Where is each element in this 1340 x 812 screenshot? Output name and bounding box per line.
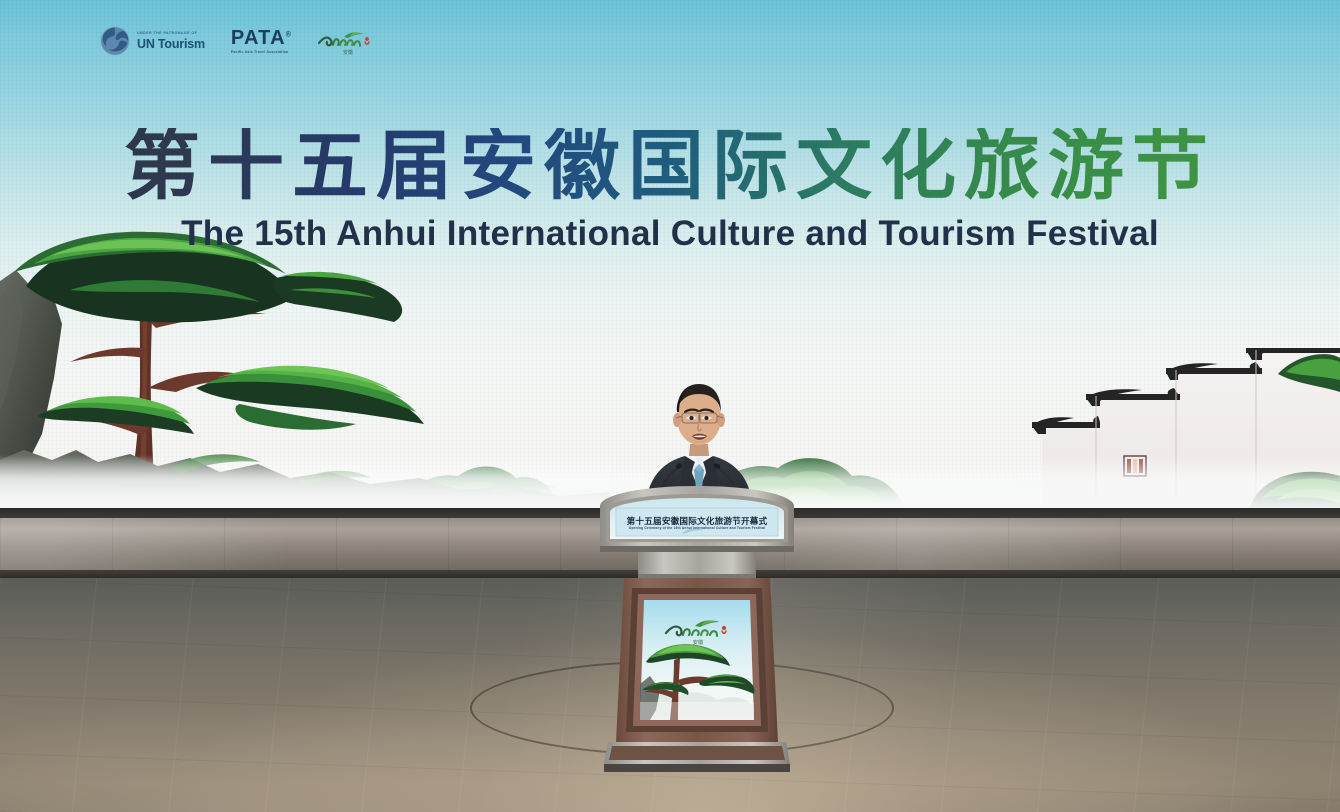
pata-wordmark: PATA®: [231, 28, 291, 48]
stage-photograph: UNDER THE PATRONAGE OF UN Tourism PATA® …: [0, 0, 1340, 812]
podium-sign-english: Opening Ceremony of the 15th Anhui Inter…: [594, 526, 800, 530]
podium: 第十五届安徽国际文化旅游节开幕式 Opening Ceremony of the…: [594, 484, 800, 774]
hui-style-architecture: [1010, 348, 1340, 508]
pata-tagline: Pacific Asia Travel Association: [231, 50, 289, 54]
podium-anhui-logo: 安徽: [662, 615, 734, 645]
un-tourism-superline: UNDER THE PATRONAGE OF: [137, 32, 205, 36]
huangshan-pine-scenery: [0, 228, 610, 508]
svg-text:安徽: 安徽: [343, 49, 353, 56]
page-title: 第十五届安徽国际文化旅游节: [0, 128, 1340, 210]
pata-registered-icon: ®: [286, 31, 291, 38]
un-tourism-globe-icon: [100, 26, 130, 56]
logo-pata: PATA® Pacific Asia Travel Association: [231, 28, 291, 54]
sponsor-logo-row: UNDER THE PATRONAGE OF UN Tourism PATA® …: [100, 26, 379, 56]
logo-anhui-tourism-brand: 安徽: [317, 26, 379, 56]
page-subtitle: The 15th Anhui International Culture and…: [0, 216, 1340, 251]
un-tourism-label: UN Tourism: [137, 38, 205, 51]
logo-un-tourism: UNDER THE PATRONAGE OF UN Tourism: [100, 26, 205, 56]
svg-text:安徽: 安徽: [693, 638, 704, 645]
event-title-block: 第十五届安徽国际文化旅游节 The 15th Anhui Internation…: [0, 128, 1340, 251]
pata-label: PATA: [231, 27, 286, 49]
